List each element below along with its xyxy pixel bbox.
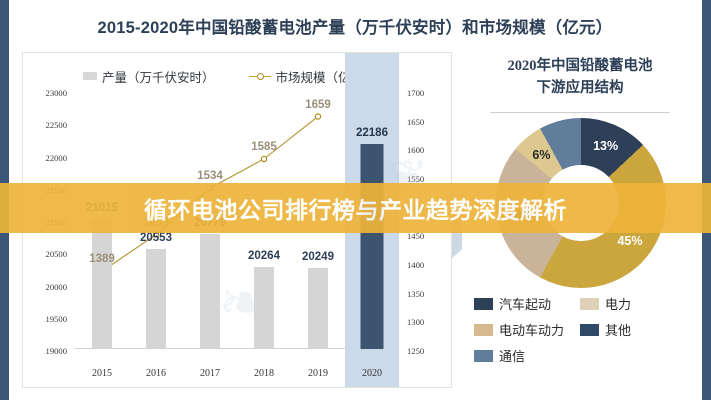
pie-legend: 汽车起动电力电动车动力其他通信 [474, 294, 686, 372]
pie-slice-label: 45% [617, 234, 642, 248]
pie-legend-label: 汽车起动 [499, 294, 551, 313]
x-axis-tick-label: 2018 [254, 368, 274, 379]
pie-title-line-2: 下游应用结构 [470, 78, 690, 100]
pie-legend-label: 其他 [605, 320, 631, 339]
pie-legend-label: 电力 [605, 294, 631, 313]
y-axis-right-tick: 1400 [407, 260, 424, 270]
y-axis-right-tick: 1700 [407, 88, 424, 98]
x-axis-tick-label: 2020 [362, 368, 382, 379]
pie-legend-label: 电动车动力 [499, 320, 564, 339]
y-axis-right-tick: 1250 [407, 346, 424, 356]
line-value-label: 1659 [305, 99, 331, 111]
bar-value-label: 22186 [356, 127, 388, 139]
bar [254, 267, 274, 349]
pie-slice-label: 13% [593, 139, 618, 153]
banner-title: 循环电池公司排行榜与产业趋势深度解析 [144, 191, 567, 225]
frame-notch-top-left [9, 0, 45, 7]
pie-legend-swatch-icon [580, 298, 599, 310]
pie-legend-item: 电动车动力 [474, 320, 580, 339]
line-value-label: 1534 [197, 170, 223, 182]
pie-title-line-1: 2020年中国铅酸蓄电池 [470, 56, 690, 78]
pie-legend-item: 电力 [580, 294, 686, 313]
bar [308, 268, 328, 349]
x-axis-tick-label: 2017 [200, 368, 220, 379]
overlay-banner: 循环电池公司排行榜与产业趋势深度解析 [0, 183, 711, 233]
pie-legend-swatch-icon [474, 324, 493, 336]
y-axis-left-tick: 22500 [46, 120, 67, 130]
x-axis-tick-label: 2016 [146, 368, 166, 379]
pie-legend-item: 通信 [474, 346, 580, 365]
bar-value-label: 20249 [302, 251, 334, 263]
y-axis-left-tick: 23000 [46, 88, 67, 98]
bar [200, 234, 220, 349]
y-axis-left-tick: 20000 [46, 282, 67, 292]
bar [146, 249, 166, 349]
y-axis-right-tick: 1600 [407, 145, 424, 155]
y-axis-left-tick: 22000 [46, 153, 67, 163]
y-axis-left-tick: 19500 [46, 314, 67, 324]
pie-legend-label: 通信 [499, 346, 525, 365]
y-axis-left-tick: 19000 [46, 346, 67, 356]
pie-chart-title: 2020年中国铅酸蓄电池 下游应用结构 [470, 56, 690, 100]
y-axis-right-tick: 1350 [407, 289, 424, 299]
infographic-root: 2015-2020年中国铅酸蓄电池产量（万千伏安时）和市场规模（亿元） 产量（万… [0, 0, 711, 400]
pie-legend-swatch-icon [474, 350, 493, 362]
pie-legend-item: 其他 [580, 320, 686, 339]
bar [360, 144, 383, 349]
y-axis-right-tick: 1300 [407, 317, 424, 327]
y-axis-left-tick: 20500 [46, 249, 67, 259]
x-axis-tick-label: 2019 [308, 368, 328, 379]
bar-value-label: 20553 [140, 232, 172, 244]
line-value-label: 1389 [89, 253, 115, 265]
frame-notch-bottom-left [9, 393, 45, 400]
pie-legend-swatch-icon [580, 324, 599, 336]
page-title: 2015-2020年中国铅酸蓄电池产量（万千伏安时）和市场规模（亿元） [30, 14, 680, 38]
pie-legend-swatch-icon [474, 298, 493, 310]
pie-legend-item: 汽车起动 [474, 294, 580, 313]
pie-slice-label: 6% [532, 148, 550, 162]
bar [92, 219, 112, 349]
y-axis-right-tick: 1650 [407, 117, 424, 127]
pie-title-divider [490, 112, 670, 113]
line-value-label: 1585 [251, 141, 277, 153]
x-axis-tick-label: 2015 [92, 368, 112, 379]
bar-value-label: 20264 [248, 250, 280, 262]
